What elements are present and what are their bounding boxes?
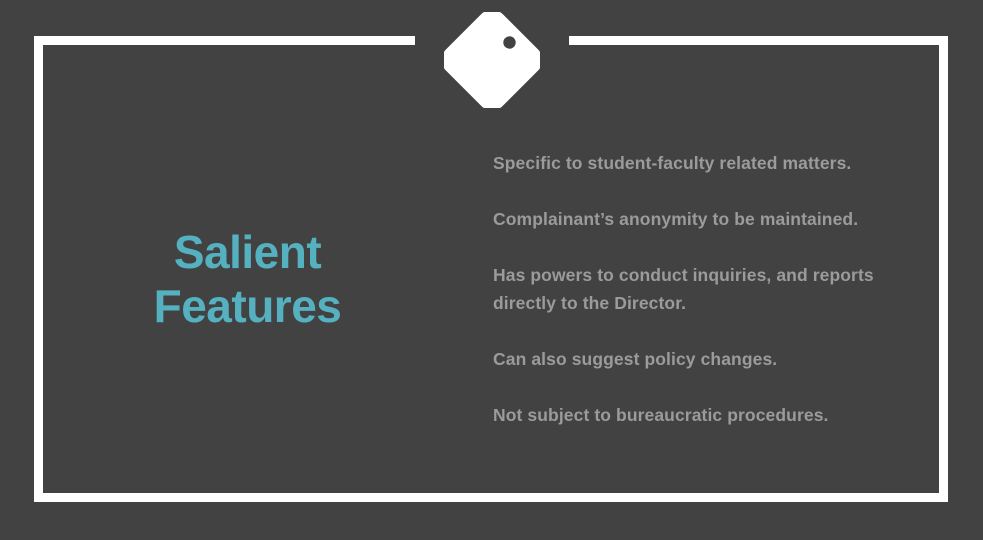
page-title-line-2: Features	[60, 279, 435, 333]
frame-border-left	[34, 36, 43, 502]
price-tag-icon	[444, 12, 540, 108]
frame-border-top-left	[34, 36, 415, 45]
list-item: Has powers to conduct inquiries, and rep…	[493, 261, 925, 317]
frame-border-bottom	[34, 493, 948, 502]
slide-canvas: Salient Features Specific to student-fac…	[0, 0, 983, 540]
list-item: Can also suggest policy changes.	[493, 345, 925, 373]
list-item: Specific to student-faculty related matt…	[493, 149, 925, 177]
frame-border-right	[939, 36, 948, 502]
features-list: Specific to student-faculty related matt…	[493, 131, 925, 429]
page-title-line-1: Salient	[60, 225, 435, 279]
frame-border-top-right	[569, 36, 948, 45]
list-item: Not subject to bureaucratic procedures.	[493, 401, 925, 429]
page-title: Salient Features	[60, 225, 435, 333]
list-item: Complainant’s anonymity to be maintained…	[493, 205, 925, 233]
